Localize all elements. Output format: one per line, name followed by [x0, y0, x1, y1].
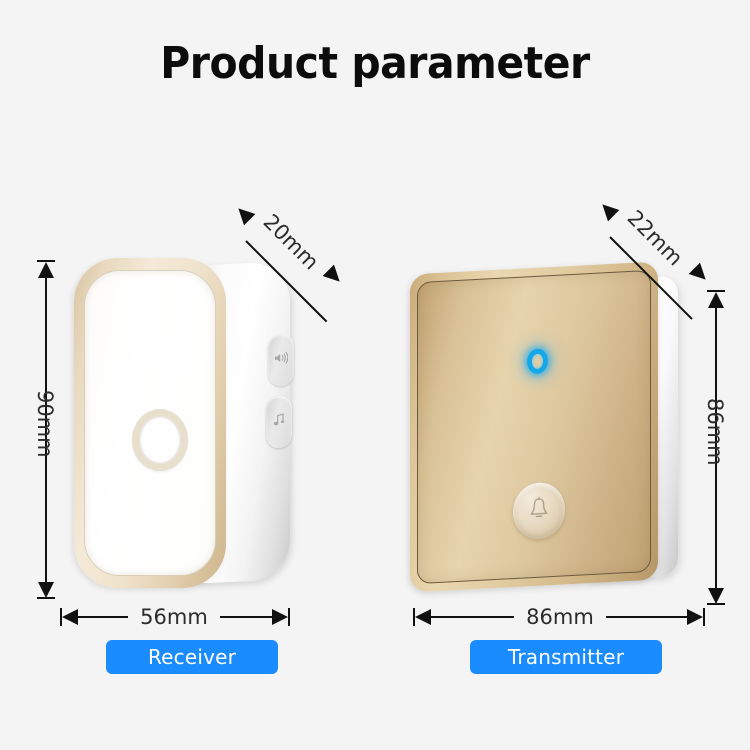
receiver-height-label: 90mm	[33, 390, 57, 454]
product-parameter-diagram: Product parameter	[0, 0, 750, 750]
arrowhead-right	[272, 609, 288, 625]
receiver-front-bezel	[74, 258, 226, 588]
receiver-music-button[interactable]	[266, 395, 292, 448]
dimension-tick-right	[703, 608, 705, 626]
dimension-tick-top	[37, 260, 55, 262]
arrowhead-down	[38, 582, 54, 598]
dimension-tick-top	[707, 290, 725, 292]
receiver-volume-button[interactable]	[268, 333, 294, 386]
receiver-width-label: 56mm	[128, 605, 220, 629]
receiver-indicator-ring[interactable]	[132, 409, 188, 471]
arrowhead-diagonal-upper	[233, 203, 256, 226]
receiver-front-face	[84, 270, 216, 576]
transmitter-width-label: 86mm	[514, 605, 606, 629]
transmitter-front-panel	[410, 262, 658, 593]
arrowhead-right	[687, 609, 703, 625]
receiver-label-badge[interactable]: Receiver	[106, 640, 278, 674]
transmitter-device-image	[410, 268, 700, 586]
arrowhead-diagonal-lower	[323, 265, 346, 288]
transmitter-led-indicator	[527, 348, 548, 374]
arrowhead-diagonal-upper	[597, 199, 620, 222]
transmitter-height-label: 86mm	[703, 398, 727, 462]
music-note-icon	[273, 412, 285, 432]
transmitter-front-face	[417, 270, 651, 584]
receiver-device-image	[74, 258, 304, 588]
dimension-tick-left	[413, 608, 415, 626]
transmitter-bell-button[interactable]	[513, 481, 565, 540]
dimension-tick-bottom	[37, 597, 55, 599]
dimension-tick-bottom	[707, 603, 725, 605]
page-title: Product parameter	[26, 38, 724, 89]
speaker-icon	[274, 351, 288, 370]
dimension-tick-right	[288, 608, 290, 626]
transmitter-label-badge[interactable]: Transmitter	[470, 640, 662, 674]
arrowhead-down	[708, 588, 724, 604]
bell-icon	[528, 496, 550, 526]
dimension-tick-left	[60, 608, 62, 626]
